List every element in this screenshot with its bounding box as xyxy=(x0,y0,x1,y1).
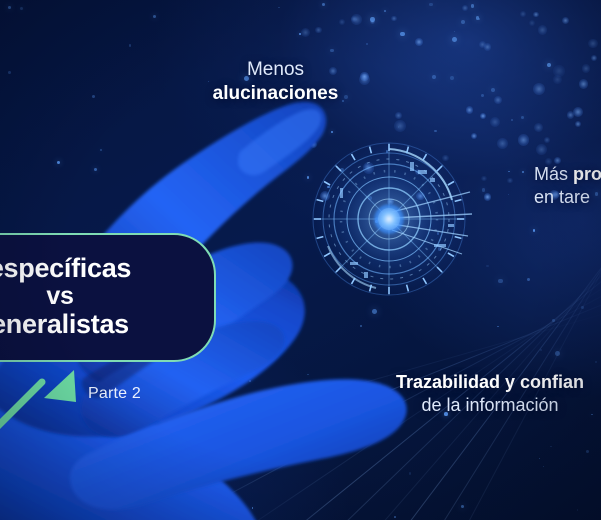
caption-traceability: Trazabilidad y confian de la información xyxy=(396,371,584,417)
hud-reticle-icon xyxy=(306,136,472,302)
title-line-2: vs xyxy=(46,283,73,310)
caption-precision-line1-light: Más xyxy=(534,164,573,184)
caption-hallucinations: Menos alucinaciones xyxy=(208,58,343,107)
growth-arrow-icon xyxy=(0,368,94,468)
poster-canvas: específicas vs eneralistas Parte 2 Menos… xyxy=(0,0,601,520)
title-box: específicas vs eneralistas xyxy=(0,233,216,362)
caption-precision-line2: en tare xyxy=(534,186,601,209)
title-line-1: específicas xyxy=(0,254,131,283)
caption-hallucinations-line2: alucinaciones xyxy=(208,82,343,106)
part-label: Parte 2 xyxy=(88,385,141,403)
caption-traceability-line1: Trazabilidad y confian xyxy=(396,371,584,394)
caption-traceability-line2: de la información xyxy=(396,394,584,417)
hud-core-glow-icon xyxy=(374,204,404,234)
title-line-3: eneralistas xyxy=(0,310,129,339)
caption-precision-line1: Más pro xyxy=(534,163,601,186)
caption-hallucinations-line1: Menos xyxy=(208,58,343,82)
caption-precision-line1-bold: pro xyxy=(573,164,601,184)
caption-precision: Más pro en tare xyxy=(534,163,601,209)
